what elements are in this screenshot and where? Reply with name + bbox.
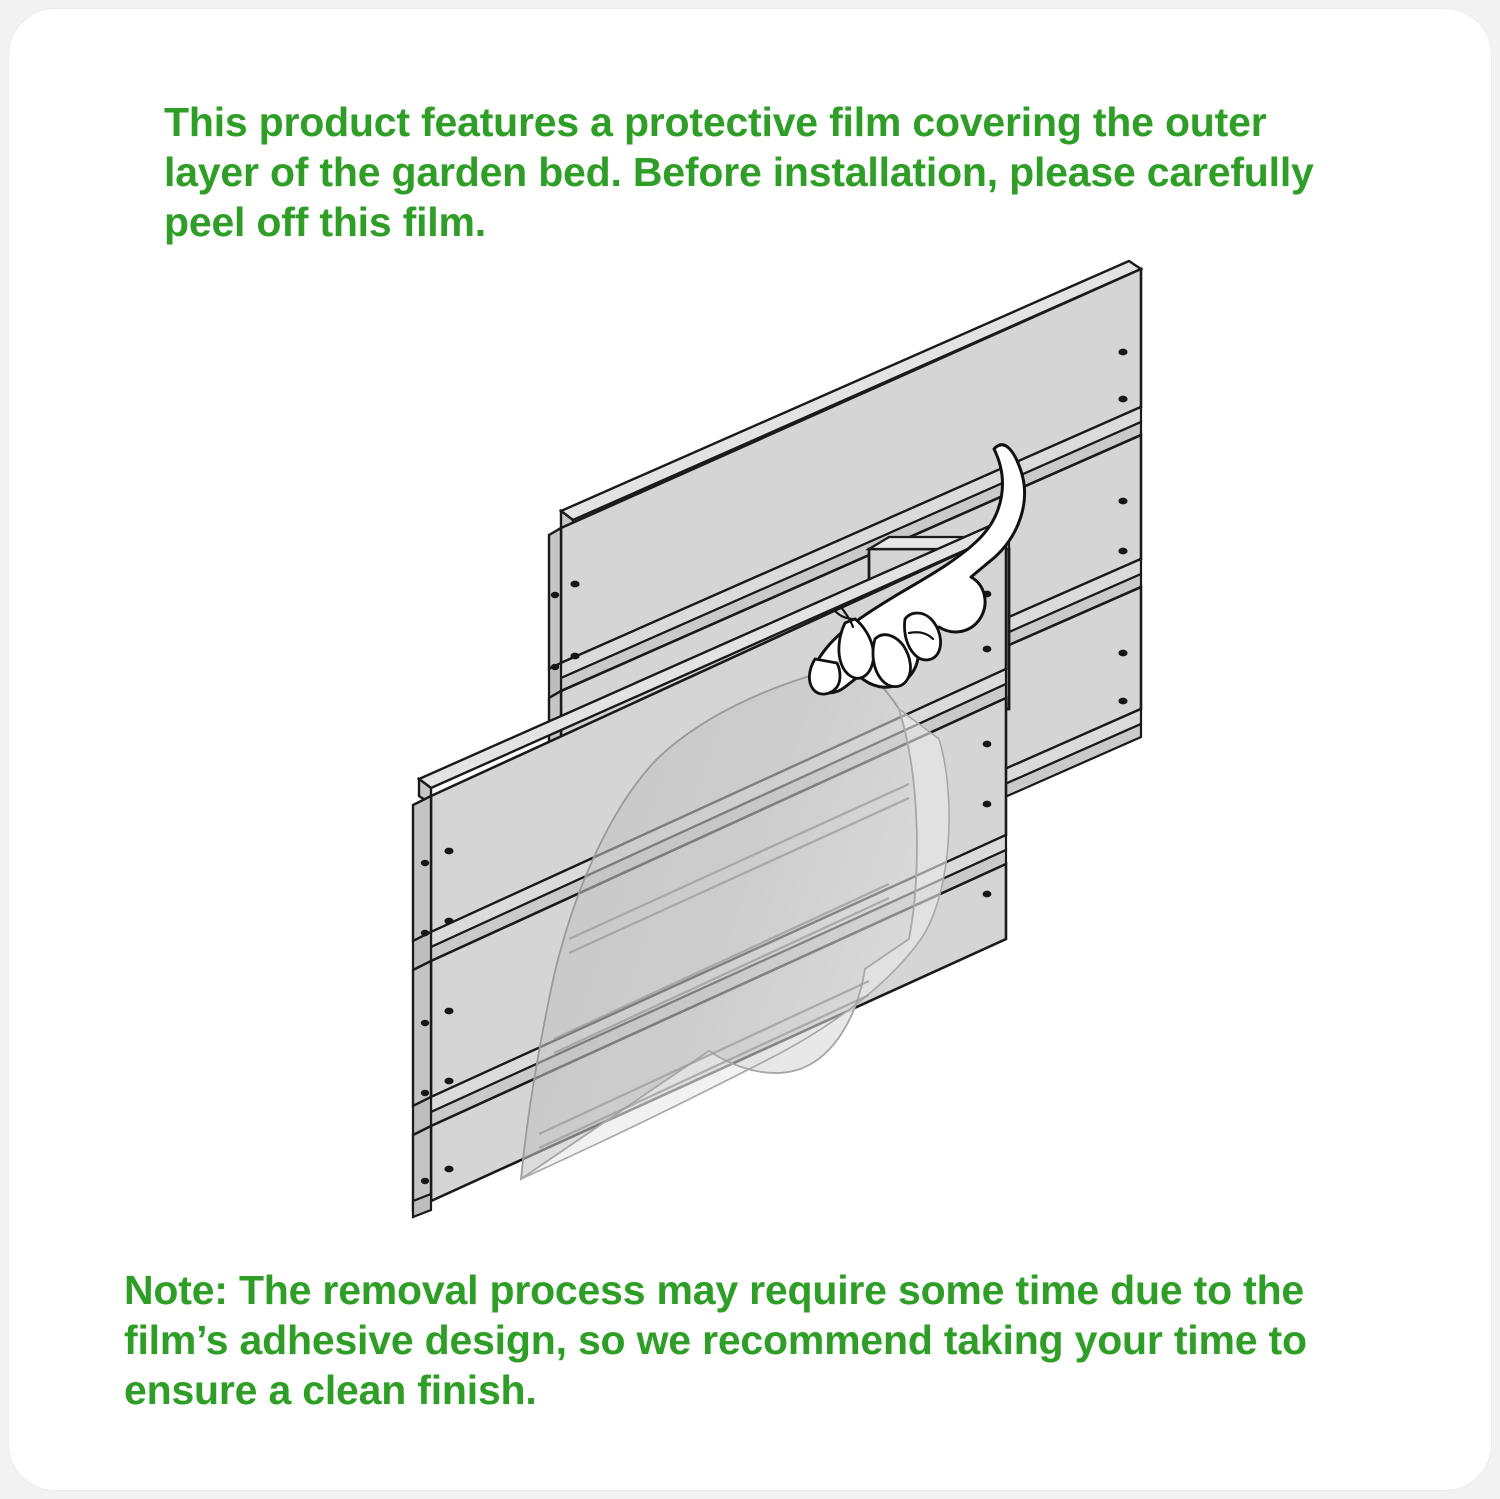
page-root: This product features a protective film … (0, 0, 1500, 1499)
thumb-tip (809, 659, 840, 694)
lower-board-1-flange (413, 796, 431, 941)
headline-text: This product features a protective film … (164, 97, 1369, 247)
upper-board-1-flange (549, 528, 561, 669)
note-text: Note: The removal process may require so… (124, 1265, 1404, 1415)
diagram-svg (9, 239, 1491, 1249)
instruction-card: This product features a protective film … (9, 9, 1491, 1490)
garden-bed-film-peel-diagram (9, 239, 1491, 1249)
lower-board-2-flange (413, 961, 431, 1106)
